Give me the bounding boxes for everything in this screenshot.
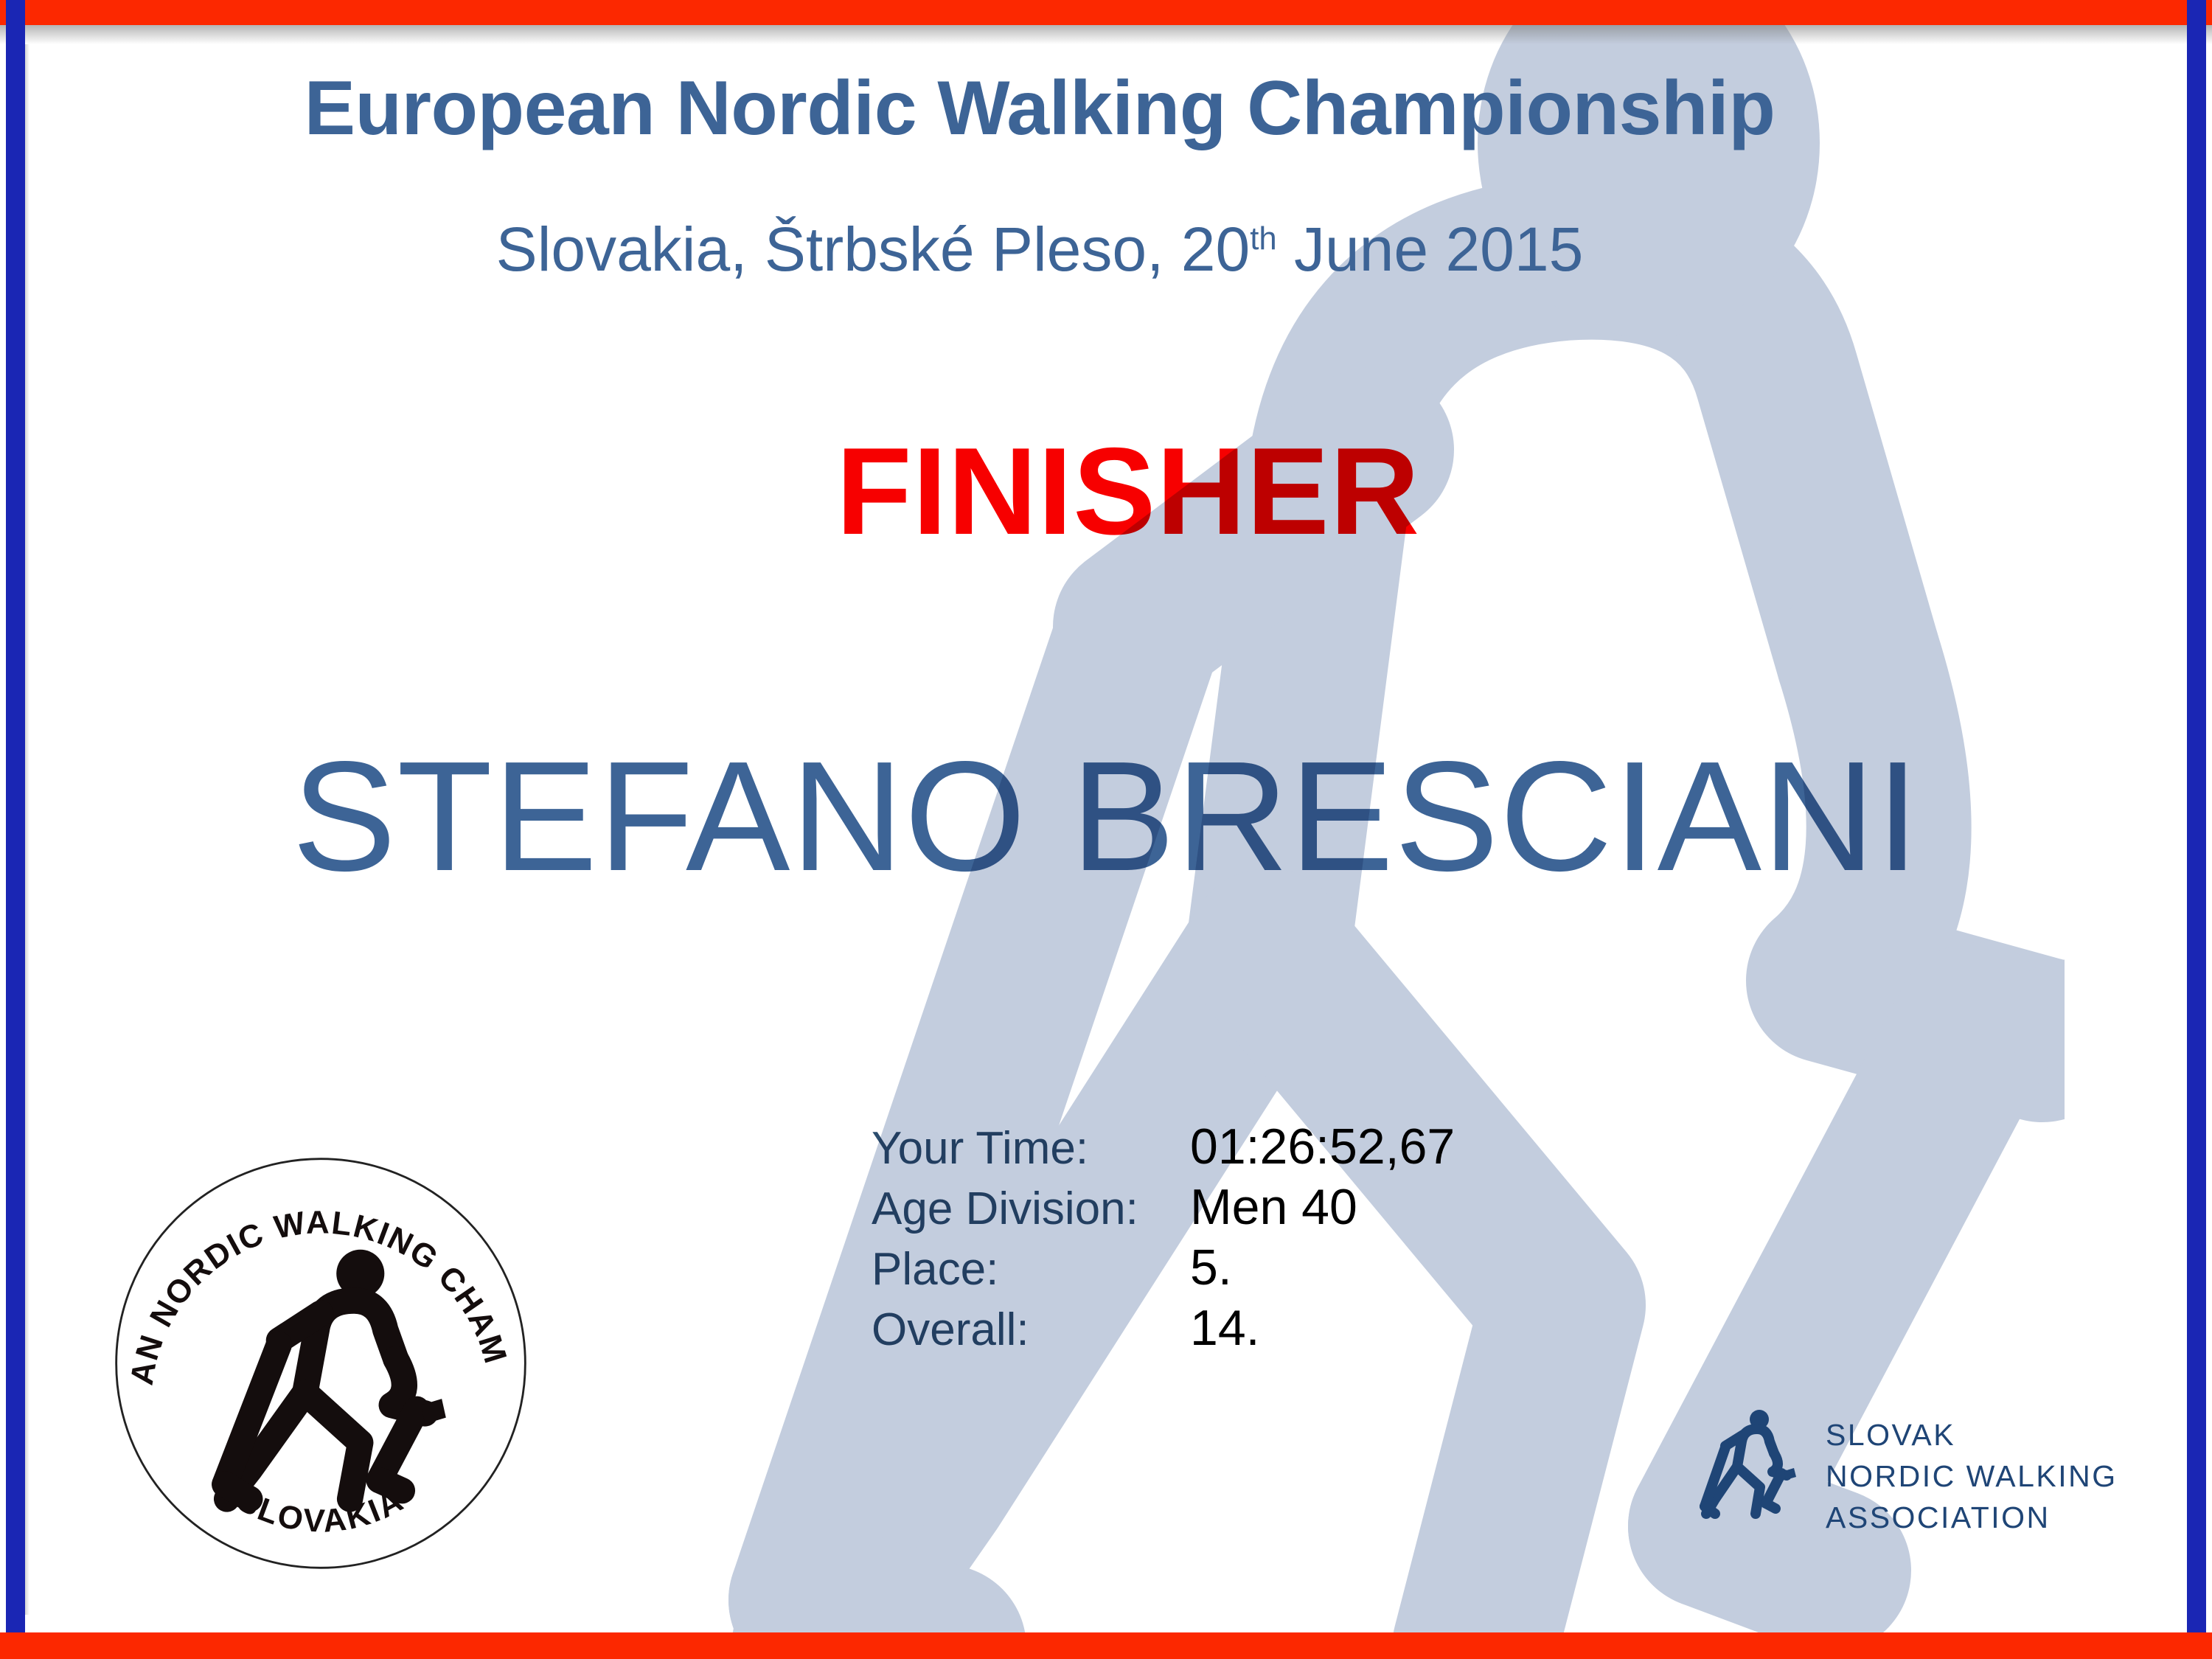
result-label: Place: (872, 1243, 1190, 1295)
association-name-line-2: NORDIC WALKING (1826, 1456, 2118, 1498)
certificate-page: European Nordic Walking Championship Slo… (0, 0, 2212, 1659)
result-label: Your Time: (872, 1122, 1190, 1175)
athlete-name: STEFANO BRESCIANI (0, 726, 2212, 906)
frame-top-shadow (0, 25, 2212, 44)
result-value: 01:26:52,67 (1190, 1118, 1455, 1175)
ordinal-suffix: th (1250, 220, 1276, 257)
result-row-place: Place: 5. (872, 1239, 1455, 1299)
result-value: 14. (1190, 1299, 1260, 1357)
association-name-line-1: SLOVAK (1826, 1415, 2118, 1456)
results-block: Your Time: 01:26:52,67 Age Division: Men… (872, 1118, 1455, 1360)
championship-seal-logo: EUROPEAN NORDIC WALKING CHAMPIONSHIP SLO… (112, 1155, 529, 1572)
association-name: SLOVAK NORDIC WALKING ASSOCIATION (1826, 1415, 2118, 1538)
page-title: European Nordic Walking Championship (0, 65, 2079, 153)
event-date-suffix: June 2015 (1277, 215, 1584, 284)
event-location-date: Slovakia, Štrbské Pleso, 20th June 2015 (0, 214, 2079, 285)
frame-top-bar (0, 0, 2212, 25)
result-value: 5. (1190, 1239, 1232, 1296)
status-badge: FINISHER (0, 420, 2212, 563)
result-row-time: Your Time: 01:26:52,67 (872, 1118, 1455, 1178)
result-row-overall: Overall: 14. (872, 1299, 1455, 1360)
association-name-line-3: ASSOCIATION (1826, 1498, 2118, 1539)
event-location-date-prefix: Slovakia, Štrbské Pleso, 20 (496, 215, 1251, 284)
result-label: Overall: (872, 1304, 1190, 1356)
association-logo: SLOVAK NORDIC WALKING ASSOCIATION (1694, 1392, 2129, 1562)
frame-bottom-bar (0, 1632, 2212, 1659)
result-label: Age Division: (872, 1183, 1190, 1235)
result-value: Men 40 (1190, 1178, 1357, 1236)
result-row-age-division: Age Division: Men 40 (872, 1178, 1455, 1239)
association-walker-icon (1694, 1403, 1805, 1551)
